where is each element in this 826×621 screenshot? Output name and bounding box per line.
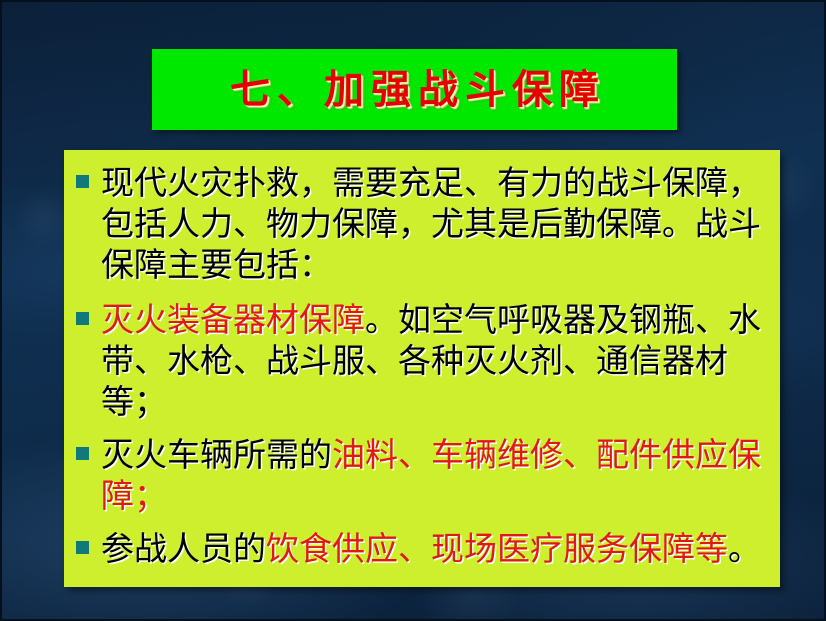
text-segment: 饮食供应、现场医疗服务保障等: [266, 529, 728, 568]
square-bullet-icon: [76, 175, 89, 188]
slide-title-text: 七、加强战斗保障: [223, 70, 606, 110]
bullet-item: 现代火灾扑救，需要充足、有力的战斗保障，包括人力、物力保障，尤其是后勤保障。战斗…: [76, 162, 766, 285]
bullet-text: 灭火装备器材保障。如空气呼吸器及钢瓶、水带、水枪、战斗服、各种灭火剂、通信器材等…: [101, 299, 766, 422]
bullet-item: 灭火车辆所需的油料、车辆维修、配件供应保障；: [76, 434, 766, 516]
bullet-item: 灭火装备器材保障。如空气呼吸器及钢瓶、水带、水枪、战斗服、各种灭火剂、通信器材等…: [76, 299, 766, 422]
text-segment: 参战人员的: [101, 529, 266, 568]
square-bullet-icon: [76, 541, 89, 554]
slide-content-panel: 现代火灾扑救，需要充足、有力的战斗保障，包括人力、物力保障，尤其是后勤保障。战斗…: [64, 150, 780, 587]
presentation-slide: 七、加强战斗保障 现代火灾扑救，需要充足、有力的战斗保障，包括人力、物力保障，尤…: [0, 0, 826, 621]
square-bullet-icon: [76, 447, 89, 460]
text-segment: 灭火装备器材保障: [101, 300, 365, 339]
text-segment: 现代火灾扑救，需要充足、有力的战斗保障，包括人力、物力保障，尤其是后勤保障。战斗…: [101, 163, 761, 284]
text-segment: 。: [728, 529, 761, 568]
slide-title-banner: 七、加强战斗保障: [152, 49, 677, 130]
bullet-text: 现代火灾扑救，需要充足、有力的战斗保障，包括人力、物力保障，尤其是后勤保障。战斗…: [101, 162, 766, 285]
bullet-text: 参战人员的饮食供应、现场医疗服务保障等。: [101, 528, 766, 569]
bullet-text: 灭火车辆所需的油料、车辆维修、配件供应保障；: [101, 434, 766, 516]
bullet-item: 参战人员的饮食供应、现场医疗服务保障等。: [76, 528, 766, 569]
square-bullet-icon: [76, 312, 89, 325]
text-segment: 灭火车辆所需的: [101, 435, 332, 474]
